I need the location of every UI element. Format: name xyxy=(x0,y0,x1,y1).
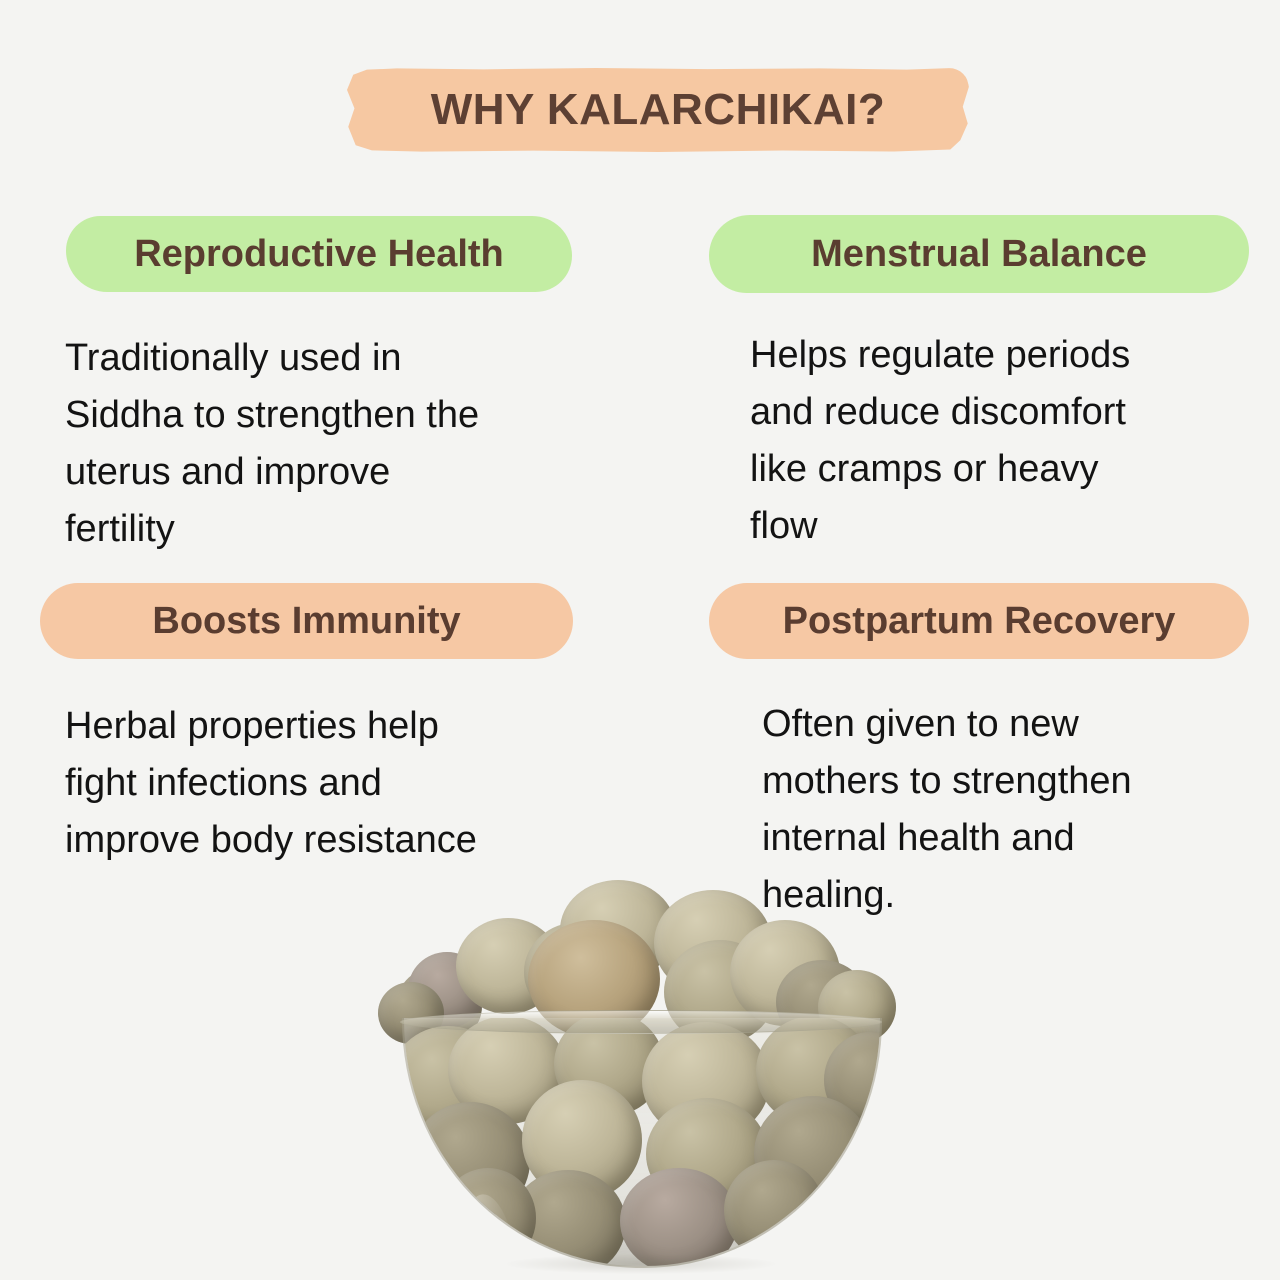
infographic-poster: WHY KALARCHIKAI? Reproductive Health Tra… xyxy=(0,0,1280,1280)
section-heading-postpartum-recovery: Postpartum Recovery xyxy=(709,583,1249,659)
section-heading-menstrual-balance: Menstrual Balance xyxy=(709,215,1249,293)
bowl-drop-shadow xyxy=(506,1254,776,1274)
page-title: WHY KALARCHIKAI? xyxy=(347,68,969,152)
product-image-bowl-of-kalarchikai-seeds xyxy=(378,878,902,1280)
section-heading-boosts-immunity: Boosts Immunity xyxy=(40,583,573,659)
glass-bowl xyxy=(402,1018,882,1268)
bowl-rim xyxy=(400,1010,882,1034)
section-body-reproductive-health: Traditionally used in Siddha to strength… xyxy=(65,330,555,558)
section-heading-reproductive-health: Reproductive Health xyxy=(66,216,572,292)
section-body-menstrual-balance: Helps regulate periods and reduce discom… xyxy=(750,327,1220,555)
seed xyxy=(724,1160,824,1260)
section-body-boosts-immunity: Herbal properties help fight infections … xyxy=(65,698,560,869)
seed xyxy=(620,1168,738,1268)
